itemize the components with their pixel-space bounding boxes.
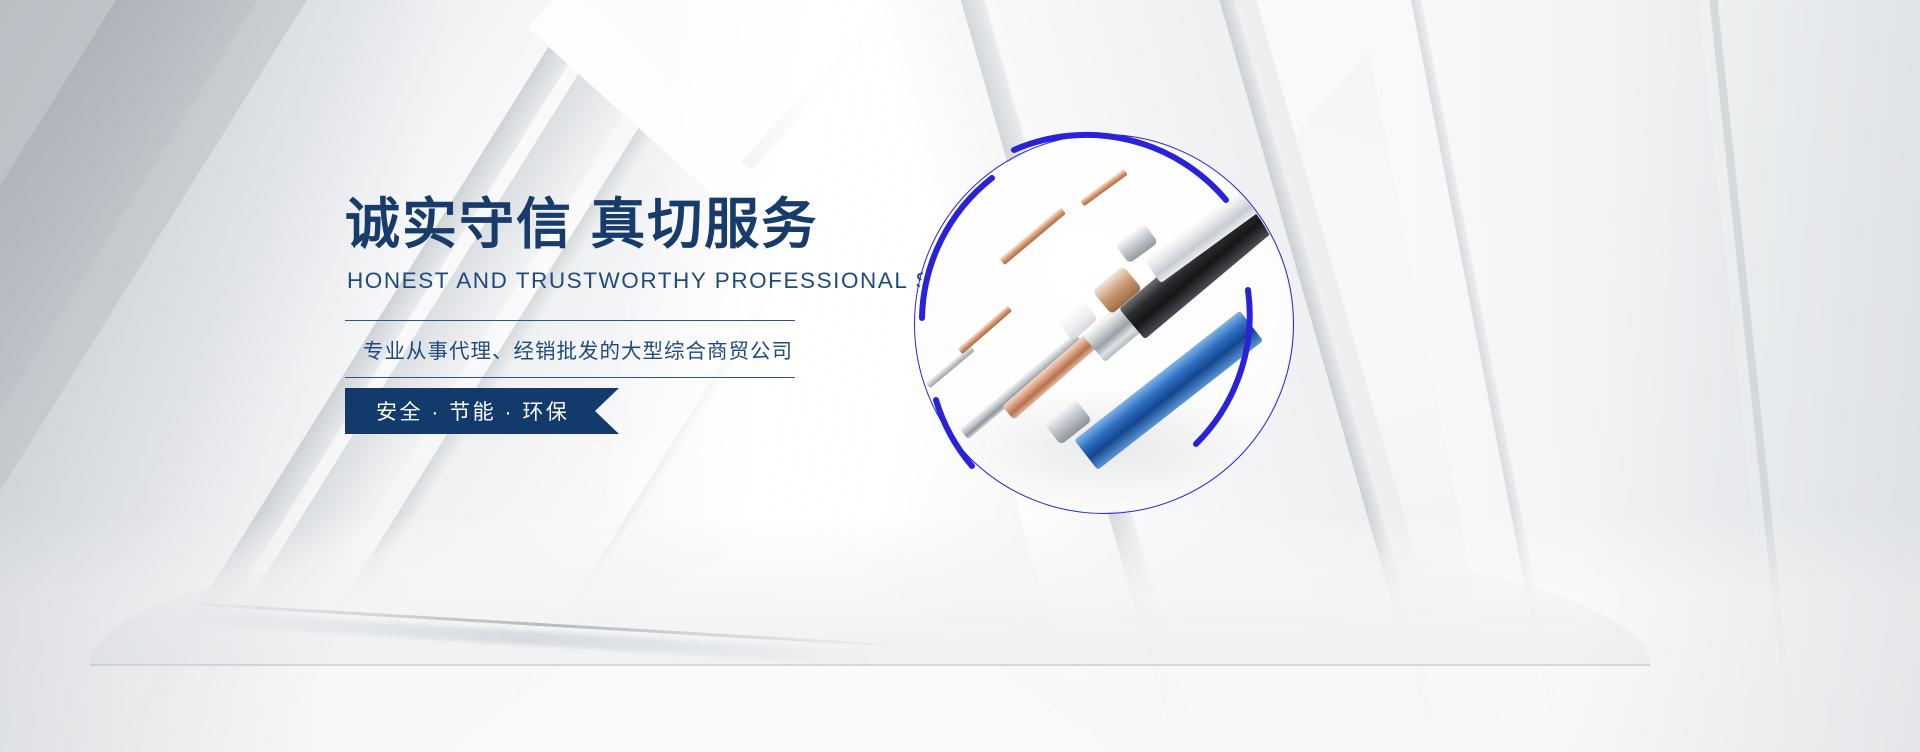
rule-bottom	[345, 377, 795, 378]
page-title: 诚实守信 真切服务	[345, 196, 905, 254]
medallion-accent-arcs	[896, 114, 1316, 534]
hero-banner: 诚实守信 真切服务 HONEST AND TRUSTWORTHY PROFESS…	[0, 0, 1920, 752]
status-badge-arrow	[595, 388, 619, 434]
status-badge: 安全 · 节能 · 环保	[345, 388, 595, 434]
hero-text-block: 诚实守信 真切服务 HONEST AND TRUSTWORTHY PROFESS…	[345, 196, 905, 378]
status-badge-label: 安全 · 节能 · 环保	[345, 396, 569, 426]
description-rules: 专业从事代理、经销批发的大型综合商贸公司	[345, 320, 795, 378]
page-subtitle: HONEST AND TRUSTWORTHY PROFESSIONAL SERV…	[347, 268, 905, 294]
product-medallion	[908, 128, 1300, 520]
page-description: 专业从事代理、经销批发的大型综合商贸公司	[345, 321, 795, 377]
